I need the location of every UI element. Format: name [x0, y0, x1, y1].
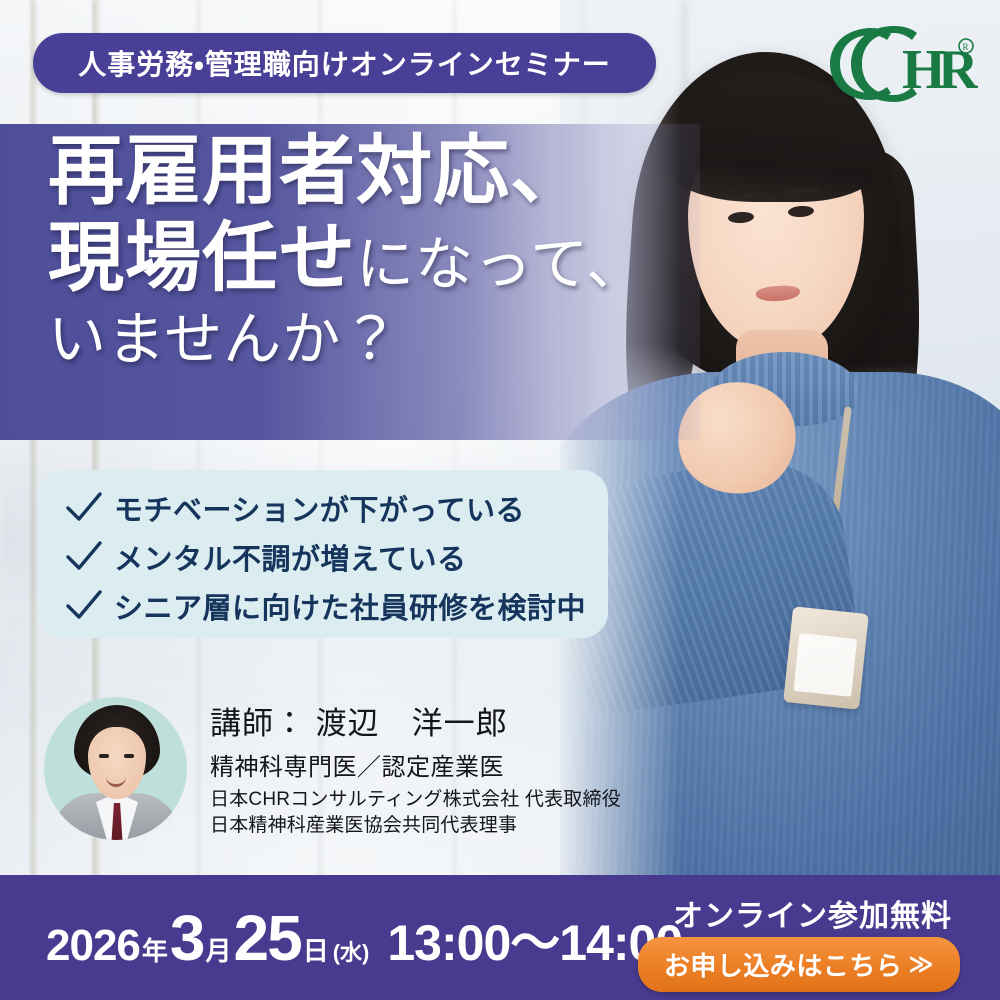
model-id-badge — [783, 606, 869, 709]
event-month: 3 — [170, 901, 204, 975]
headline: 再雇用者対応、 現場任せになって、 いませんか？ — [48, 132, 708, 371]
event-weekday: (水) — [333, 935, 370, 967]
checklist-item-label: メンタル不調が増えている — [114, 536, 467, 578]
headline-line-2-strong: 現場任せ — [48, 216, 356, 301]
event-year: 2026 — [46, 921, 140, 971]
footer-bar: 2026 年 3 月 25 日 (水) 13:00〜14:00 オンライン参加無… — [0, 875, 1000, 1000]
chr-logo: H R R — [818, 16, 978, 108]
checklist-item-label: モチベーションが下がっている — [114, 487, 525, 529]
apply-button-label: お申し込みはこちら — [664, 946, 903, 983]
speaker-avatar — [44, 697, 187, 840]
checklist-item: シニア層に向けた社員研修を検討中 — [64, 582, 608, 629]
speaker-info: 講師： 渡辺 洋一郎 精神科専門医／認定産業医 日本CHRコンサルティング株式会… — [210, 698, 621, 838]
headline-line-1: 再雇用者対応、 — [48, 132, 708, 213]
speaker-name: 講師： 渡辺 洋一郎 — [210, 698, 621, 743]
seminar-poster: 人事労務・管理職向けオンラインセミナー H R R 再雇用者対応、 現場任せにな… — [0, 0, 1000, 1000]
speaker-avatar-face — [88, 727, 146, 799]
check-icon — [64, 491, 104, 525]
chevron-right-icon: ≫ — [908, 950, 934, 979]
headline-line-3: いませんか？ — [48, 309, 708, 370]
checklist-item-label: シニア層に向けた社員研修を検討中 — [114, 585, 586, 627]
speaker-avatar-eye-right — [124, 754, 134, 758]
event-day-unit: 日 — [303, 931, 329, 968]
event-month-unit: 月 — [206, 931, 232, 968]
event-datetime: 2026 年 3 月 25 日 (水) 13:00〜14:00 — [46, 901, 682, 975]
seminar-category-label: 人事労務・管理職向けオンラインセミナー — [78, 43, 611, 83]
check-icon — [64, 540, 104, 574]
headline-line-2: 現場任せになって、 — [48, 219, 708, 300]
apply-button[interactable]: お申し込みはこちら ≫ — [638, 937, 960, 992]
chr-logo-icon: H R R — [818, 16, 978, 108]
speaker-affiliation-1: 日本CHRコンサルティング株式会社 代表取締役 — [210, 787, 621, 813]
svg-text:R: R — [963, 42, 969, 52]
speaker-title: 精神科専門医／認定産業医 — [210, 747, 621, 782]
checklist-item: メンタル不調が増えている — [64, 533, 608, 580]
headline-line-2-rest: になって、 — [356, 232, 645, 297]
pain-point-checklist: モチベーションが下がっている メンタル不調が増えている シニア層に向けた社員研修… — [38, 470, 608, 638]
free-participation-label: オンライン参加無料 — [673, 891, 952, 935]
event-year-unit: 年 — [142, 931, 168, 968]
speaker-avatar-eye-left — [99, 754, 109, 758]
seminar-category-pill: 人事労務・管理職向けオンラインセミナー — [33, 33, 656, 93]
checklist-item: モチベーションが下がっている — [64, 484, 608, 531]
speaker-affiliation-2: 日本精神科産業医協会共同代表理事 — [210, 813, 621, 839]
event-day: 25 — [234, 901, 301, 975]
check-icon — [64, 589, 104, 623]
